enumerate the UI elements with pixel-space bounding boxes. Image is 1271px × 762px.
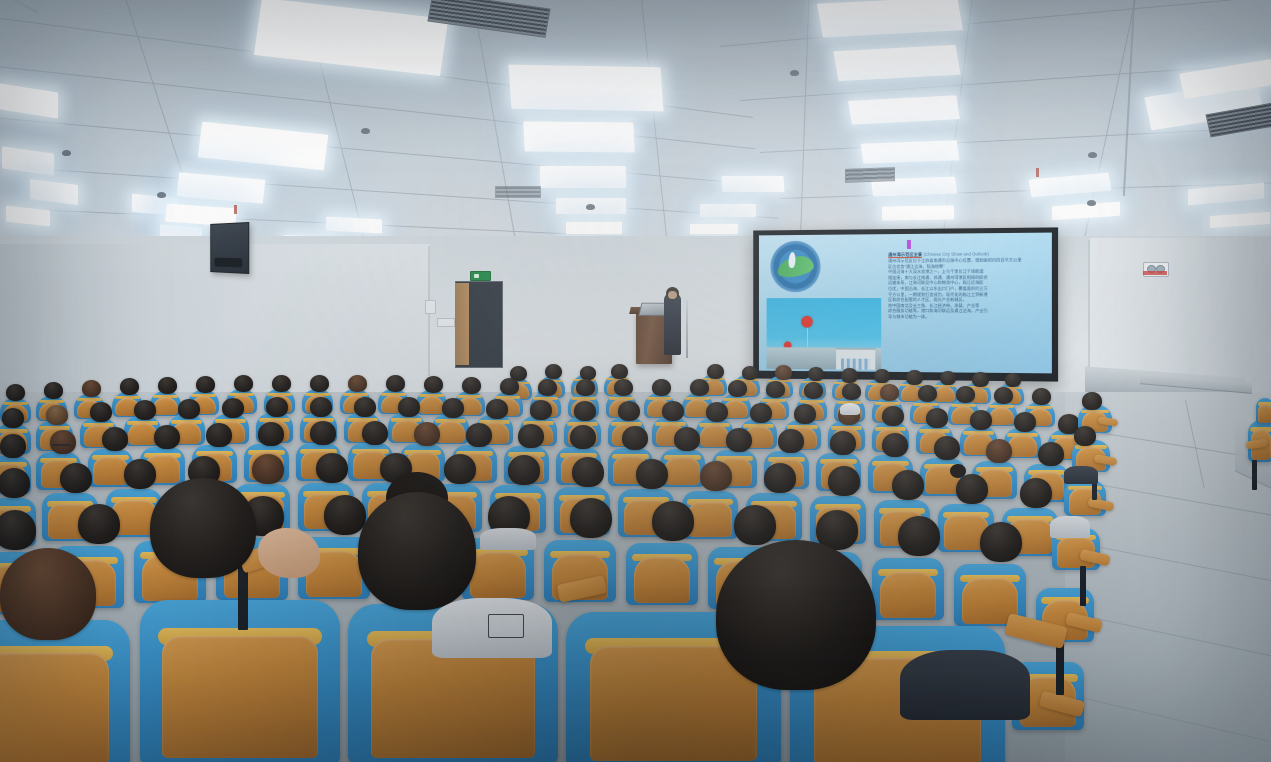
emergency-light-band (1143, 271, 1167, 275)
audience-head (574, 401, 596, 421)
audience-head (508, 455, 540, 485)
smoke-detector-icon (1087, 200, 1096, 206)
audience-head (124, 459, 156, 489)
audience-head (82, 380, 101, 397)
wall-control-panel[interactable] (425, 300, 436, 314)
audience-head (486, 399, 508, 419)
seat[interactable] (1256, 398, 1271, 424)
emblem-swoosh (776, 254, 815, 279)
audience-head (716, 540, 876, 690)
audience-head (50, 430, 76, 454)
ceiling-light-panel (523, 122, 635, 153)
audience-head (518, 424, 544, 448)
audience-head (934, 436, 960, 460)
smoke-detector-icon (62, 150, 71, 156)
audience-head (1038, 442, 1064, 466)
audience-head (750, 403, 772, 423)
audience-head (842, 383, 861, 400)
slide-line: 导与城市功能为一体。 (888, 314, 1045, 320)
audience-head (576, 379, 595, 396)
ceiling-light-panel (833, 45, 960, 81)
audience-head (618, 401, 640, 421)
audience-head (6, 384, 25, 401)
audience-head (310, 421, 336, 445)
audience-head (386, 375, 405, 392)
audience-head (994, 387, 1013, 404)
audience-head (150, 478, 256, 578)
slide-title-en: (Chinese City Show and Outlook) (923, 251, 988, 256)
audience-head (0, 510, 36, 550)
audience-head (652, 379, 671, 396)
audience-head (466, 423, 492, 447)
seat[interactable] (872, 558, 944, 620)
audience-head (258, 422, 284, 446)
audience-head (841, 368, 858, 383)
audience-head (178, 399, 200, 419)
balloon-string (807, 328, 808, 350)
seat-post (1080, 566, 1086, 606)
presentation-display[interactable]: 通州湾示范区全景 (Chinese City Show and Outlook)… (753, 227, 1058, 381)
audience-head (898, 516, 940, 556)
audience-head (316, 453, 348, 483)
audience-head (196, 376, 215, 393)
audience-head (46, 405, 68, 425)
seat[interactable] (0, 620, 130, 762)
audience-head (120, 378, 139, 395)
audience-head (530, 400, 552, 420)
audience-head (252, 454, 284, 484)
fire-sprinkler-icon (234, 205, 237, 214)
audience-head (358, 492, 476, 610)
audience-head (970, 410, 992, 430)
smoke-detector-icon (157, 192, 166, 198)
audience-head (674, 427, 700, 451)
audience-head (707, 364, 724, 379)
audience-head (570, 498, 612, 538)
audience-head (324, 495, 366, 535)
audience-shoulder (1064, 466, 1098, 484)
audience-head (830, 431, 856, 455)
audience-head (880, 384, 899, 401)
audience-head (538, 379, 557, 396)
audience-head (611, 364, 628, 379)
lecture-hall-photo: 通州湾示范区全景 (Chinese City Show and Outlook)… (0, 0, 1271, 762)
fire-sprinkler-icon (1036, 168, 1039, 177)
ceiling-light-panel (700, 204, 756, 217)
audience-shoulder (1050, 516, 1090, 538)
audience-head (622, 426, 648, 450)
audience-cap-icon (840, 403, 860, 415)
pa-speaker-icon (210, 222, 249, 274)
ceiling-light-panel (566, 222, 622, 234)
presenter-face (668, 291, 677, 299)
audience-head (1020, 478, 1052, 508)
ceiling-light-panel (508, 65, 663, 112)
audience-head (580, 366, 596, 380)
audience-head (775, 365, 792, 380)
audience-head (706, 402, 728, 422)
audience-head (874, 369, 890, 383)
slide-photo (767, 298, 882, 370)
audience-head (766, 381, 785, 398)
audience-head (1082, 392, 1102, 410)
ceiling-light-panel (882, 205, 954, 220)
seat[interactable] (1064, 480, 1106, 516)
audience-head (234, 375, 253, 392)
audience-head (956, 474, 988, 504)
audience-head (414, 422, 440, 446)
audience-head (348, 375, 367, 392)
ceiling-light-panel (540, 166, 627, 188)
audience-head (90, 402, 112, 422)
audience-head (570, 425, 596, 449)
audience-head (980, 522, 1022, 562)
eyeglasses-icon (52, 444, 70, 446)
audience-head (310, 375, 329, 392)
audience-head (1032, 388, 1051, 405)
audience-head (272, 375, 291, 392)
exit-sign (470, 271, 491, 281)
ceiling-air-vent (495, 186, 541, 198)
audience-head (0, 468, 30, 498)
wall-sign-plate (437, 318, 455, 327)
slide-gate (836, 348, 875, 370)
audience-head (78, 504, 120, 544)
ceiling-light-panel (721, 176, 784, 192)
audience-head (154, 425, 180, 449)
seat[interactable] (626, 543, 698, 605)
school-emblem-icon (770, 241, 820, 293)
microphone-stand (686, 300, 688, 358)
audience-head (972, 372, 989, 387)
audience-head (102, 427, 128, 451)
smoke-detector-icon (790, 70, 799, 76)
audience-head (986, 439, 1012, 463)
ceiling-light-panel (326, 217, 382, 234)
audience-head (882, 433, 908, 457)
door-leaf[interactable] (455, 283, 469, 365)
audience-head (2, 408, 24, 428)
audience-head (158, 377, 177, 394)
audience-head (794, 404, 816, 424)
audience-head (882, 406, 904, 426)
smoke-detector-icon (361, 128, 370, 134)
audience-head (0, 548, 96, 640)
hair-bun (950, 464, 966, 478)
audience-head (728, 380, 747, 397)
audience-head (778, 429, 804, 453)
audience-head (892, 470, 924, 500)
audience-head (1014, 412, 1036, 432)
audience-shoulder (480, 528, 536, 550)
audience-head (362, 421, 388, 445)
audience-head (44, 382, 63, 399)
audience-head (354, 397, 376, 417)
audience-head (222, 398, 244, 418)
audience-head (1074, 426, 1096, 446)
audience-head (662, 401, 684, 421)
audience-head (808, 367, 824, 381)
audience-head (614, 379, 633, 396)
audience-head (734, 505, 776, 545)
audience-head (0, 434, 26, 458)
audience-head (918, 385, 937, 402)
audience-head (572, 457, 604, 487)
audience-head (940, 371, 956, 385)
audience-head (206, 423, 232, 447)
audience-head (545, 364, 562, 379)
audience-shoulder (900, 650, 1030, 720)
audience-head (424, 376, 443, 393)
audience-head (134, 400, 156, 420)
display-screen: 通州湾示范区全景 (Chinese City Show and Outlook)… (759, 233, 1052, 374)
ceiling-light-panel (690, 224, 738, 234)
audience-head (444, 454, 476, 484)
audience-head (310, 397, 332, 417)
ceiling (0, 0, 1271, 258)
balloon-icon (801, 316, 813, 328)
slide-text-block: 通州湾示范区全景 (Chinese City Show and Outlook)… (888, 251, 1045, 320)
audience-head (398, 397, 420, 417)
mobile-phone[interactable] (488, 614, 524, 638)
audience-head (700, 461, 732, 491)
audience-head (742, 366, 758, 380)
audience-head (1005, 373, 1021, 387)
seat-post (1252, 460, 1257, 490)
presenter-body (664, 293, 681, 355)
audience-head (60, 463, 92, 493)
audience-head (442, 398, 464, 418)
audience-head (266, 397, 288, 417)
audience-head (652, 501, 694, 541)
ceiling-air-vent (845, 167, 895, 183)
audience-head (906, 370, 923, 385)
audience-head (804, 382, 823, 399)
smoke-detector-icon (1088, 152, 1097, 158)
slide-line: 通州湾示范区位于江苏省南通市沿海中心位置，规划面积约四百平方公里 (888, 257, 1045, 264)
audience-head (764, 463, 796, 493)
audience-head (500, 378, 519, 395)
text-cursor (907, 240, 911, 249)
audience-head (828, 466, 860, 496)
ceiling-light-panel (861, 140, 960, 163)
audience-head (462, 377, 481, 394)
audience-head (636, 459, 668, 489)
audience-head (690, 379, 709, 396)
audience-head (726, 428, 752, 452)
audience-head (956, 386, 975, 403)
audience-head (926, 408, 948, 428)
smoke-detector-icon (586, 204, 595, 210)
